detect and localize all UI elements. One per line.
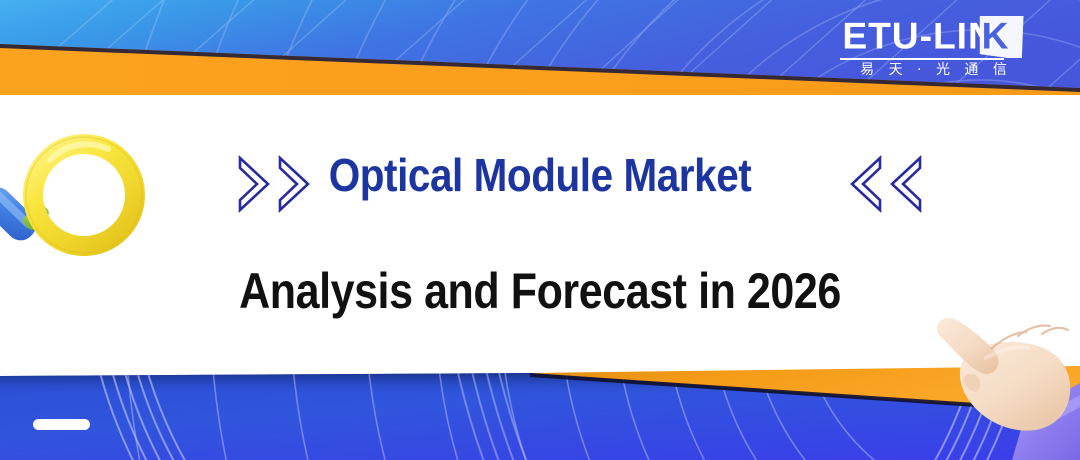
pointing-hand-icon: [930, 296, 1080, 460]
svg-text:K: K: [982, 16, 1009, 56]
logo-wordmark-icon: ETU-LIN K: [838, 16, 1028, 58]
svg-text:ETU-LIN: ETU-LIN: [842, 16, 995, 56]
logo-subtitle: 易 天 · 光 通 信: [854, 60, 1018, 80]
etu-link-logo: ETU-LIN K 易 天 · 光 通 信: [838, 14, 1028, 82]
headline-secondary: Analysis and Forecast in 2026: [76, 262, 1005, 320]
banner-root: ETU-LIN K 易 天 · 光 通 信: [0, 0, 1080, 460]
bottom-accent-pill: [33, 419, 90, 430]
headline-primary: Optical Module Market: [65, 148, 1015, 202]
